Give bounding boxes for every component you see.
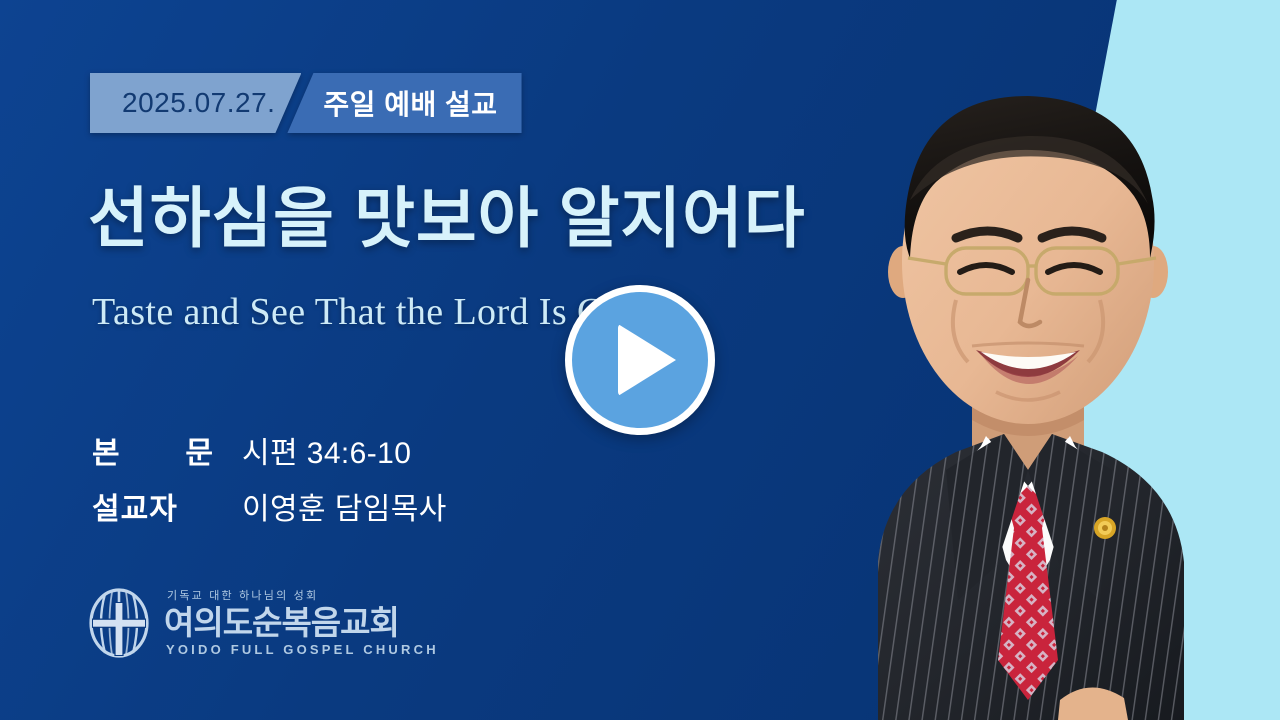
scripture-label-char-2: 문 bbox=[185, 428, 214, 472]
service-type-badge: 주일 예배 설교 bbox=[287, 73, 521, 133]
preacher-value: 이영훈 담임목사 bbox=[242, 484, 447, 528]
church-logo: 기독교 대한 하나님의 성회 여의도순복음교회 YOIDO FULL GOSPE… bbox=[88, 588, 439, 658]
sermon-badge-row: 2025.07.27. 주일 예배 설교 bbox=[90, 73, 522, 133]
scripture-label: 본 문 bbox=[92, 428, 242, 472]
video-thumbnail: 2025.07.27. 주일 예배 설교 선하심을 맛보아 알지어다 Taste… bbox=[0, 0, 1280, 720]
scripture-label-char-1: 본 bbox=[92, 428, 121, 472]
church-denomination: 기독교 대한 하나님의 성회 bbox=[167, 591, 439, 602]
sermon-meta: 본 문 시편 34:6-10 설교자 이영훈 담임목사 bbox=[92, 428, 447, 540]
play-icon bbox=[618, 324, 676, 396]
church-name-english: YOIDO FULL GOSPEL CHURCH bbox=[166, 643, 439, 656]
church-name-korean: 여의도순복음교회 bbox=[164, 606, 439, 639]
play-button[interactable] bbox=[565, 285, 715, 435]
scripture-row: 본 문 시편 34:6-10 bbox=[92, 428, 447, 472]
preacher-label: 설교자 bbox=[92, 484, 242, 528]
preacher-row: 설교자 이영훈 담임목사 bbox=[92, 484, 447, 528]
church-logo-text: 기독교 대한 하나님의 성회 여의도순복음교회 YOIDO FULL GOSPE… bbox=[164, 591, 439, 656]
globe-cross-icon bbox=[88, 588, 150, 658]
sermon-date-badge: 2025.07.27. bbox=[90, 73, 301, 133]
sermon-title-korean: 선하심을 맛보아 알지어다 bbox=[88, 182, 806, 256]
scripture-value: 시편 34:6-10 bbox=[242, 428, 411, 472]
